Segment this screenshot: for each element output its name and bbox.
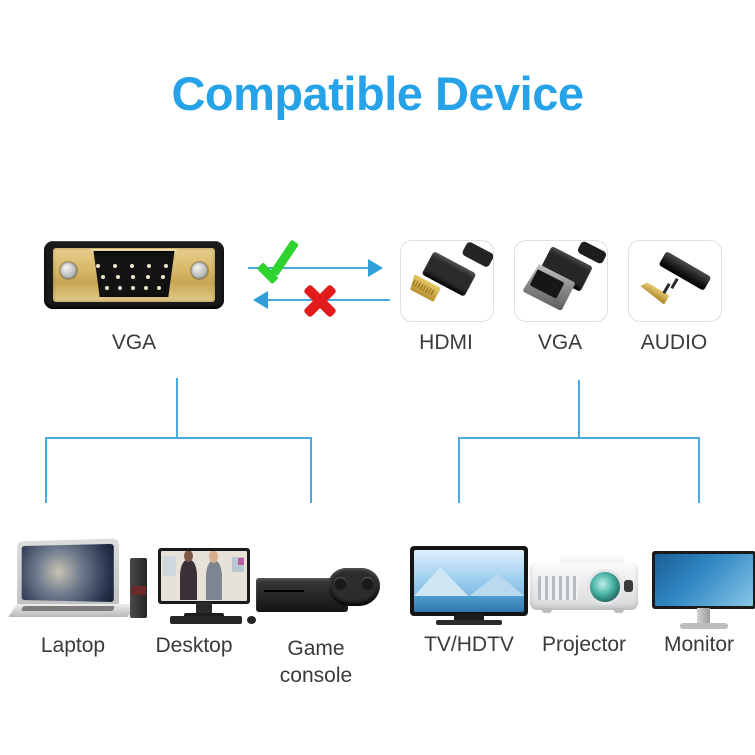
vga-pin (96, 264, 100, 268)
vga-pin (161, 275, 165, 279)
vga-pin (130, 264, 134, 268)
arrow-left-icon (253, 291, 268, 309)
vga-pin (157, 286, 161, 290)
source-device-label-laptop: Laptop (8, 633, 138, 659)
vga-pin (164, 264, 168, 268)
vga-pin (116, 275, 120, 279)
vga-pin (131, 286, 135, 290)
connector-card-vga (514, 240, 608, 322)
vga-screw-right (191, 262, 208, 279)
arrow-right-icon (368, 259, 383, 277)
connector-label-audio: AUDIO (613, 330, 735, 356)
connector-label-hdmi: HDMI (385, 330, 507, 356)
vga-pin (146, 275, 150, 279)
source-device-label-game-console: Game console (256, 635, 376, 689)
connector-card-hdmi (400, 240, 494, 322)
vga-pin (113, 264, 117, 268)
output-device-label-projector: Projector (520, 632, 648, 658)
vga-pins (94, 263, 174, 295)
vga-pin (131, 275, 135, 279)
projector-icon (530, 550, 640, 620)
page-title: Compatible Device (0, 68, 755, 120)
television-icon (410, 546, 528, 626)
game-console-icon (256, 558, 382, 628)
connector-label-vga: VGA (499, 330, 621, 356)
vga-pin (101, 275, 105, 279)
vga-pin (105, 286, 109, 290)
compatible-device-diagram: Compatible Device VGA HDMI (0, 0, 755, 755)
monitor-icon (652, 551, 755, 629)
audio-jack-icon (629, 241, 721, 321)
connector-card-audio (628, 240, 722, 322)
vga-pin (147, 264, 151, 268)
vga-connector-icon (515, 241, 607, 321)
vga-pin (118, 286, 122, 290)
green-check-icon (258, 244, 310, 284)
vga-screw-left (60, 262, 77, 279)
hdmi-connector-icon (401, 241, 493, 321)
desktop-computer-icon (130, 544, 258, 626)
output-device-label-monitor: Monitor (640, 632, 755, 658)
output-device-label-tv: TV/HDTV (400, 632, 538, 658)
source-device-label-desktop: Desktop (130, 633, 258, 659)
vga-connector-icon (44, 241, 224, 309)
laptop-icon (8, 538, 138, 620)
red-cross-icon (300, 282, 340, 320)
source-connector-label: VGA (44, 330, 224, 356)
vga-pin (144, 286, 148, 290)
